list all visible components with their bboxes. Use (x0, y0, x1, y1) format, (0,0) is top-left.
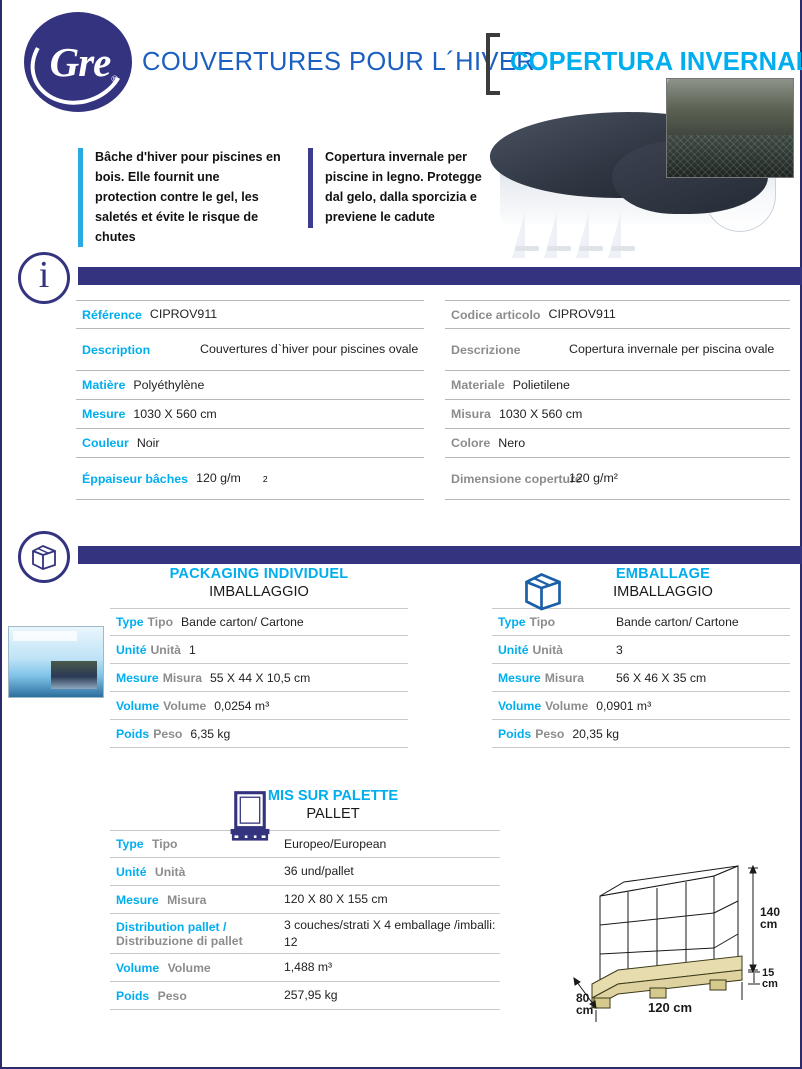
pallet-title-it: PALLET (166, 806, 500, 822)
spec-row: Codice articolo CIPROV911 (445, 300, 790, 329)
row-label-it: Tipo (152, 837, 178, 851)
individual-packaging-title: PACKAGING INDIVIDUEL IMBALLAGGIO (110, 566, 408, 600)
row-label-it: Volume (168, 961, 211, 975)
row-label-fr: Poids (498, 727, 531, 741)
spec-value-exponent: 2 (263, 474, 268, 484)
spec-label: Descrizione (451, 343, 569, 357)
spec-value: 1030 X 560 cm (499, 406, 582, 423)
master-packaging-table: Type Tipo Bande carton/ Cartone Unité Un… (492, 608, 790, 748)
spec-table-fr: Référence CIPROV911 Description Couvertu… (76, 300, 424, 500)
individual-packaging-table: Type Tipo Bande carton/ Cartone Unité Un… (110, 608, 408, 748)
table-row: Type Tipo Bande carton/ Cartone (110, 608, 408, 636)
row-label-fr: Type (116, 615, 144, 629)
row-label-it: Peso (535, 727, 564, 741)
spec-value: Polietilene (513, 377, 570, 394)
table-row: Volume Volume 0,0254 m³ (110, 692, 408, 720)
info-section-band (78, 267, 802, 285)
table-row: Poids Peso 6,35 kg (110, 720, 408, 748)
row-label-fr: Volume (116, 699, 159, 713)
info-icon-circle: i (18, 252, 70, 304)
row-label-group: Mesure Misura (116, 891, 284, 909)
spec-label: Description (82, 343, 200, 357)
row-label-fr: Mesure (498, 671, 541, 685)
row-label-group: Poids Peso (116, 987, 284, 1005)
row-label-fr: Mesure (116, 893, 159, 907)
master-packaging-title-fr: EMBALLAGE (536, 566, 790, 582)
spec-row: Dimensione coperture 120 g/m² (445, 458, 790, 500)
row-value: 0,0901 m³ (596, 699, 651, 713)
master-packaging-title: EMBALLAGE IMBALLAGGIO (536, 566, 790, 600)
row-label-fr: Volume (116, 961, 159, 975)
row-label-fr: Type (498, 615, 526, 629)
row-value: 6,35 kg (190, 727, 230, 741)
spec-label: Mesure (82, 407, 125, 421)
row-value: Bande carton/ Cartone (181, 615, 304, 629)
spec-row: Description Couvertures d`hiver pour pis… (76, 329, 424, 371)
package-box-icon (29, 543, 59, 571)
table-row: Volume Volume 1,488 m³ (110, 954, 500, 982)
pallet-icon (228, 790, 272, 842)
table-row: Type Tipo Bande carton/ Cartone (492, 608, 790, 636)
row-label-fr: Type (116, 837, 144, 851)
row-label-fr: Unité (116, 643, 146, 657)
row-value: 56 X 46 X 35 cm (616, 671, 706, 685)
row-value: 55 X 44 X 10,5 cm (210, 671, 310, 685)
row-label-it: Tipo (148, 615, 174, 629)
row-label-group: Type Tipo (498, 615, 616, 629)
row-label-group: Distribution pallet / Distribuzione di p… (116, 920, 284, 948)
page-title-fr: COUVERTURES POUR L´HIVER (142, 48, 535, 77)
spec-table-it: Codice articolo CIPROV911 Descrizione Co… (445, 300, 790, 500)
retail-box-photo (8, 626, 104, 698)
package-icon-circle (18, 531, 70, 583)
row-value: 3 (616, 643, 623, 657)
row-value: 120 X 80 X 155 cm (284, 891, 388, 907)
spec-value: 120 g/m (196, 470, 241, 487)
row-label-it: Tipo (530, 615, 556, 629)
spec-label: Éppaiseur bâches (82, 472, 188, 486)
spec-row: Materiale Polietilene (445, 371, 790, 400)
master-package-icon-wrap (520, 570, 566, 612)
spec-value: CIPROV911 (150, 306, 217, 323)
pallet-table: Type Tipo Europeo/European Unité Unità 3… (110, 830, 500, 1010)
row-value: 0,0254 m³ (214, 699, 269, 713)
spec-label: Misura (451, 407, 491, 421)
spec-value: Copertura invernale per piscina ovale (569, 341, 774, 358)
package-box-icon (520, 570, 566, 612)
intro-text-it: Copertura invernale per piscine in legno… (308, 148, 494, 228)
info-icon: i (39, 256, 50, 294)
individual-packaging-title-fr: PACKAGING INDIVIDUEL (110, 566, 408, 582)
intro-text-fr: Bâche d'hiver pour piscines en bois. Ell… (78, 148, 284, 247)
row-label-group: Unité Unità (498, 643, 616, 657)
product-datasheet-page: Gre ® COUVERTURES POUR L´HIVER COPERTURA… (0, 0, 802, 1069)
row-label-it: Volume (163, 699, 206, 713)
spec-row: Colore Nero (445, 429, 790, 458)
row-label-it: Peso (158, 989, 187, 1003)
spec-label: Colore (451, 436, 490, 450)
row-value: 36 und/pallet (284, 863, 354, 879)
row-label-it: Volume (545, 699, 588, 713)
row-label-fr: Poids (116, 989, 149, 1003)
spec-value: Couvertures d`hiver pour piscines ovale (200, 341, 418, 358)
table-row: Poids Peso 257,95 kg (110, 982, 500, 1010)
spec-value: Nero (498, 435, 525, 452)
spec-value: CIPROV911 (549, 306, 616, 323)
row-label-it: Unità (155, 865, 185, 879)
spec-row: Mesure 1030 X 560 cm (76, 400, 424, 429)
row-label-fr: Unité (116, 865, 146, 879)
master-packaging-title-it: IMBALLAGGIO (536, 584, 790, 600)
spec-row: Matière Polyéthylène (76, 371, 424, 400)
row-label-it: Unità (532, 643, 562, 657)
packaging-section-band (78, 546, 802, 564)
logo-registered-icon: ® (111, 74, 118, 84)
table-row: Unité Unità 1 (110, 636, 408, 664)
spec-row: Misura 1030 X 560 cm (445, 400, 790, 429)
gre-logo: Gre ® (24, 12, 132, 112)
pallet-diagram-svg: 140 cm 15 cm 80 cm (562, 860, 797, 1030)
page-title-it: COPERTURA INVERNALE (510, 48, 802, 77)
table-row: Distribution pallet / Distribuzione di p… (110, 914, 500, 954)
spec-label: Materiale (451, 378, 505, 392)
spec-label: Codice articolo (451, 308, 541, 322)
spec-label: Matière (82, 378, 125, 392)
row-value: Bande carton/ Cartone (616, 615, 739, 629)
spec-value: 120 g/m² (569, 470, 618, 487)
individual-packaging-title-it: IMBALLAGGIO (110, 584, 408, 600)
table-row: Type Tipo Europeo/European (110, 830, 500, 858)
row-value: 257,95 kg (284, 987, 338, 1003)
master-packaging-block: EMBALLAGE IMBALLAGGIO Type Tipo Bande ca… (492, 566, 790, 748)
row-label-group: Volume Volume (116, 959, 284, 977)
pallet-title: MIS SUR PALETTE PALLET (166, 788, 500, 822)
spec-row: Référence CIPROV911 (76, 300, 424, 329)
row-value: 1,488 m³ (284, 959, 332, 975)
individual-packaging-block: PACKAGING INDIVIDUEL IMBALLAGGIO Type Ti… (110, 566, 408, 748)
spec-row: Couleur Noir (76, 429, 424, 458)
row-value: 3 couches/strati X 4 emballage /imballi:… (284, 917, 500, 950)
row-label-it: Misura (545, 671, 584, 685)
row-label-fr: Distribution pallet / (116, 920, 284, 934)
table-row: Poids Peso 20,35 kg (492, 720, 790, 748)
spec-row: Éppaiseur bâches 120 g/m 2 (76, 458, 424, 500)
row-label-fr: Volume (498, 699, 541, 713)
spec-value: 1030 X 560 cm (133, 406, 216, 423)
row-label-fr: Poids (116, 727, 149, 741)
spec-label: Référence (82, 308, 142, 322)
row-label-it: Misura (167, 893, 206, 907)
row-label-it: Peso (153, 727, 182, 741)
row-label-it: Distribuzione di pallet (116, 934, 284, 948)
row-label-fr: Unité (498, 643, 528, 657)
diagram-base-label-line2: cm (762, 978, 778, 990)
spec-value: Noir (137, 435, 160, 452)
table-row: Mesure Misura 120 X 80 X 155 cm (110, 886, 500, 914)
cover-mesh-detail-photo (666, 78, 794, 178)
diagram-depth-label-line2: cm (576, 1003, 593, 1017)
table-row: Volume Volume 0,0901 m³ (492, 692, 790, 720)
table-row: Unité Unità 36 und/pallet (110, 858, 500, 886)
row-label-group: Unité Unità (116, 863, 284, 881)
table-row: Mesure Misura 55 X 44 X 10,5 cm (110, 664, 408, 692)
row-value: 20,35 kg (572, 727, 619, 741)
info-section-header: i (2, 252, 802, 304)
spec-label: Couleur (82, 436, 129, 450)
spec-value: Polyéthylène (133, 377, 204, 394)
product-hero-image (482, 78, 794, 260)
spec-row: Descrizione Copertura invernale per pisc… (445, 329, 790, 371)
table-row: Mesure Misura 56 X 46 X 35 cm (492, 664, 790, 692)
pallet-icon-wrap (228, 790, 272, 842)
diagram-width-label: 120 cm (648, 1000, 692, 1015)
pallet-title-fr: MIS SUR PALETTE (166, 788, 500, 804)
pallet-dimension-diagram: 140 cm 15 cm 80 cm (562, 860, 797, 1030)
pallet-block: MIS SUR PALETTE PALLET Type Tipo Europeo… (110, 788, 500, 1010)
row-label-group: Mesure Misura (498, 671, 616, 685)
diagram-height-label-line2: cm (760, 917, 777, 931)
spec-label: Dimensione coperture (451, 472, 569, 486)
table-row: Unité Unità 3 (492, 636, 790, 664)
row-value: Europeo/European (284, 836, 386, 852)
row-label-fr: Mesure (116, 671, 159, 685)
logo-wordmark: Gre (46, 38, 111, 86)
row-label-it: Misura (163, 671, 202, 685)
row-value: 1 (189, 643, 196, 657)
row-label-it: Unità (150, 643, 180, 657)
